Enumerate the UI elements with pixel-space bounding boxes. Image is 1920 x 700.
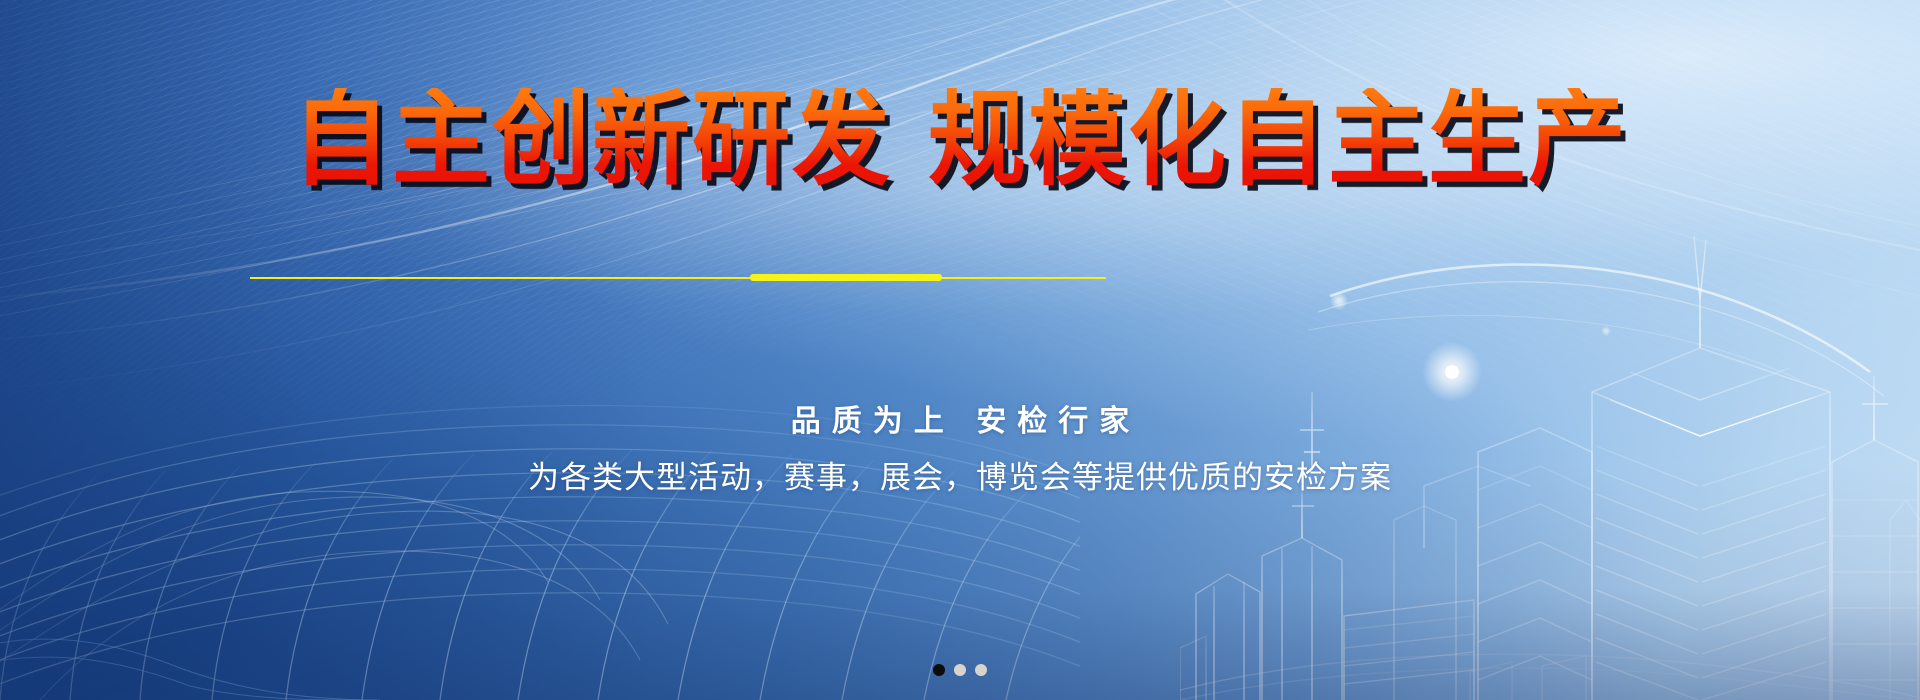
divider-thin-line: [250, 277, 1106, 279]
divider-thick-segment: [750, 274, 942, 281]
banner-description: 为各类大型活动，赛事，展会，博览会等提供优质的安检方案: [0, 452, 1920, 497]
carousel-dot-2[interactable]: [954, 664, 966, 676]
decorative-divider: [250, 276, 1106, 279]
carousel-dot-1[interactable]: [933, 664, 945, 676]
carousel-dots: [0, 664, 1920, 676]
banner-subtitle: 品质为上 安检行家: [0, 396, 1920, 440]
hero-banner: 自主创新研发 规模化自主生产 品质为上 安检行家 为各类大型活动，赛事，展会，博…: [0, 0, 1920, 700]
banner-headline: 自主创新研发 规模化自主生产: [0, 88, 1920, 192]
banner-content: 自主创新研发 规模化自主生产 品质为上 安检行家 为各类大型活动，赛事，展会，博…: [0, 0, 1920, 700]
carousel-dot-3[interactable]: [975, 664, 987, 676]
